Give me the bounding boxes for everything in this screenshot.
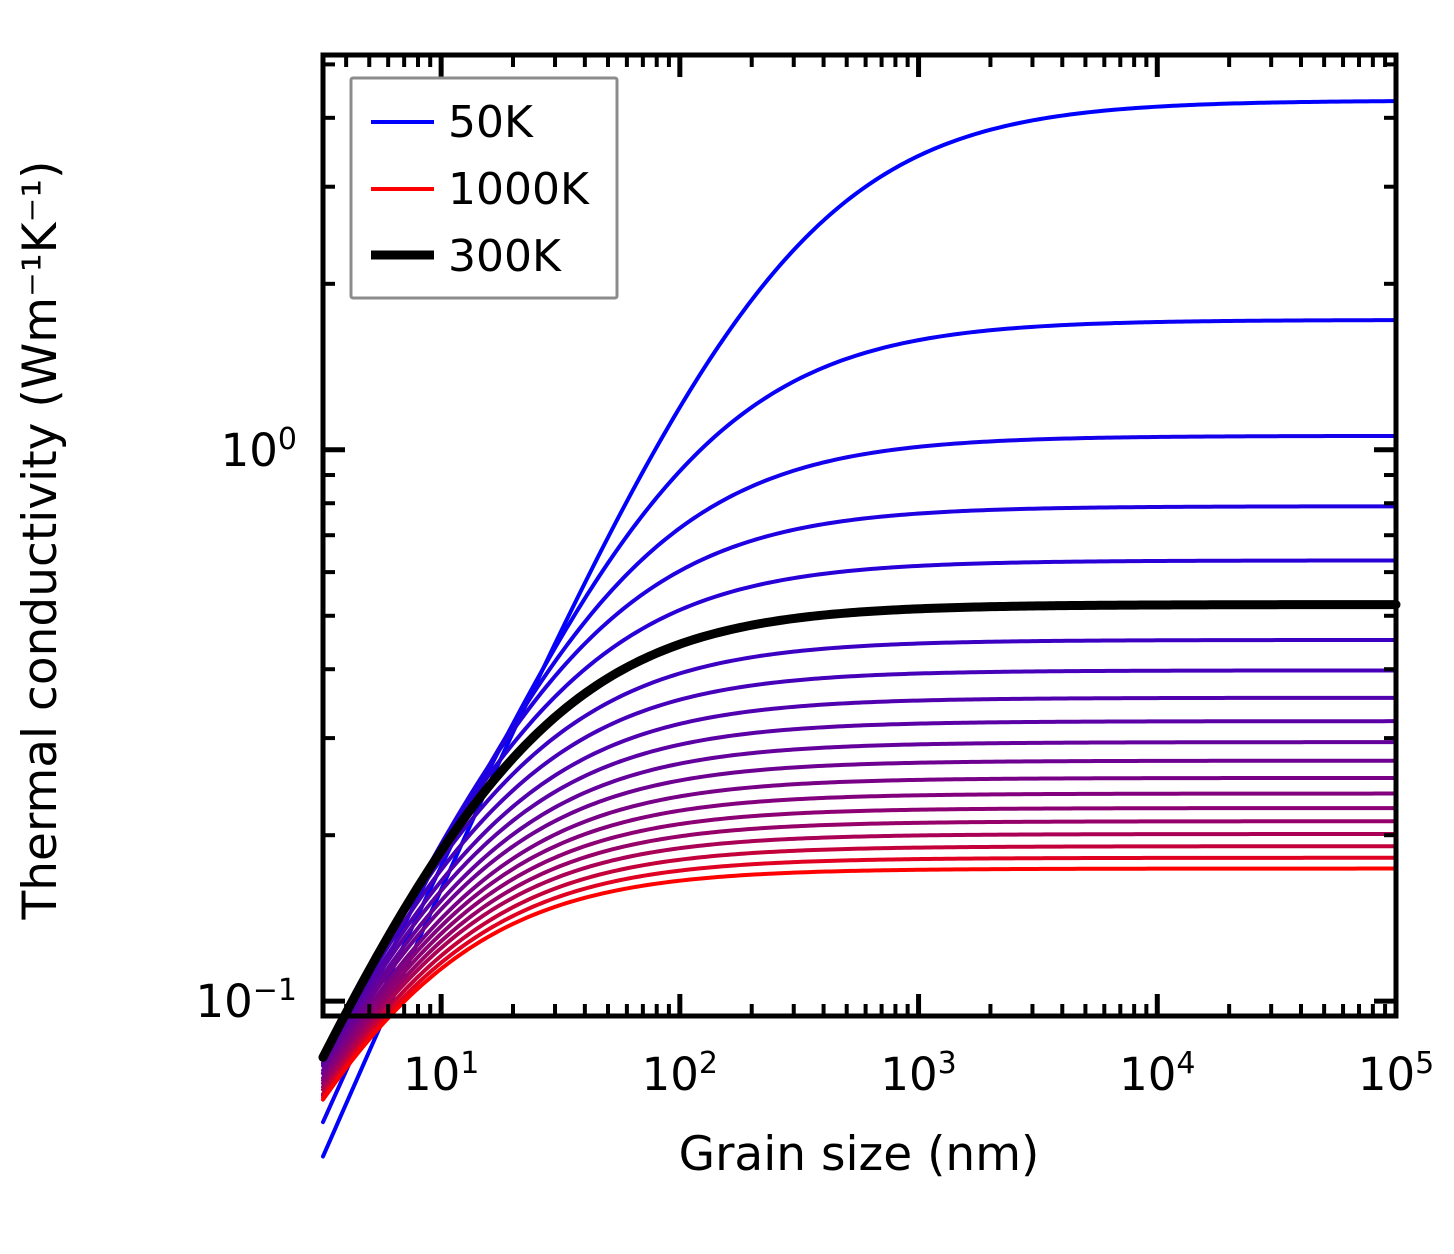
x-tick-label-3: 104 xyxy=(1119,1046,1195,1102)
x-tick-labels: 101102103104105 xyxy=(403,1046,1434,1102)
legend-label-300k: 300K xyxy=(448,231,562,282)
x-tick-label-0: 101 xyxy=(403,1046,479,1102)
y-tick-label-0: 100 xyxy=(221,421,297,477)
y-tick-label-1: 10−1 xyxy=(196,973,298,1029)
y-tick-labels: 10010−1 xyxy=(196,421,298,1028)
y-axis-label: Thermal conductivity (Wm⁻¹K⁻¹) xyxy=(13,161,68,921)
legend-label-50k: 50K xyxy=(448,97,534,148)
chart-figure: 101102103104105 10010−1 50K 1000K 300K G… xyxy=(0,0,1454,1254)
x-axis-label: Grain size (nm) xyxy=(679,1127,1040,1182)
legend: 50K 1000K 300K xyxy=(351,78,617,298)
curve-950k xyxy=(323,858,1396,1097)
x-tick-label-2: 103 xyxy=(880,1046,956,1102)
x-tick-label-4: 105 xyxy=(1358,1046,1434,1102)
x-tick-label-1: 102 xyxy=(642,1046,718,1102)
thermal-conductivity-plot: 101102103104105 10010−1 50K 1000K 300K G… xyxy=(0,0,1454,1254)
curve-900k xyxy=(323,846,1396,1094)
legend-label-1000k: 1000K xyxy=(448,164,590,215)
curve-400k xyxy=(323,670,1396,1058)
curve-1000k xyxy=(323,869,1396,1100)
